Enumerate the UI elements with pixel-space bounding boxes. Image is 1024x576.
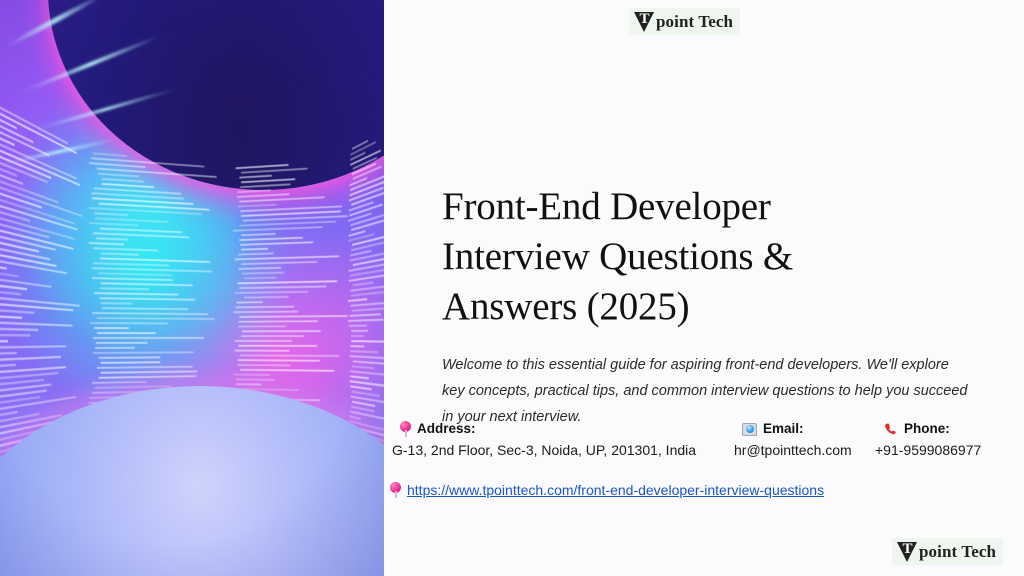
map-pin-icon (390, 482, 401, 498)
contact-email-label: Email: (763, 420, 804, 438)
logo-mark-letter: T (897, 542, 918, 557)
tpoint-triangle-icon: T (897, 541, 918, 562)
hero-image (0, 0, 384, 576)
contact-email-value[interactable]: hr@tpointtech.com (734, 441, 852, 460)
contact-address-label: Address: (417, 420, 476, 438)
contact-address-header: Address: (392, 420, 696, 438)
contact-email: Email: hr@tpointtech.com (734, 420, 852, 460)
contact-address-value: G-13, 2nd Floor, Sec-3, Noida, UP, 20130… (392, 441, 696, 460)
content-panel: T point Tech Front-End Developer Intervi… (384, 0, 1024, 576)
page-title: Front-End Developer Interview Questions … (442, 182, 912, 332)
contact-address: Address: G-13, 2nd Floor, Sec-3, Noida, … (392, 420, 696, 460)
map-pin-icon (400, 421, 411, 437)
tpoint-triangle-icon: T (634, 11, 655, 32)
contact-phone-header: Phone: (875, 420, 981, 438)
brand-logo-top: T point Tech (629, 8, 740, 35)
contact-email-header: Email: (734, 420, 852, 438)
contact-phone: Phone: +91-9599086977 (875, 420, 981, 460)
brand-logo-text: point Tech (656, 11, 733, 32)
article-url-row[interactable]: https://www.tpointtech.com/front-end-dev… (390, 481, 824, 499)
email-icon (742, 423, 757, 436)
article-url-link[interactable]: https://www.tpointtech.com/front-end-dev… (407, 481, 824, 499)
logo-mark-letter: T (634, 12, 655, 27)
phone-icon (883, 422, 898, 437)
contact-phone-value[interactable]: +91-9599086977 (875, 441, 981, 460)
brand-logo-text: point Tech (919, 541, 996, 562)
contact-info-row: Address: G-13, 2nd Floor, Sec-3, Noida, … (392, 420, 1024, 466)
slide-root: T point Tech Front-End Developer Intervi… (0, 0, 1024, 576)
page-subtitle: Welcome to this essential guide for aspi… (442, 352, 972, 430)
contact-phone-label: Phone: (904, 420, 950, 438)
brand-logo-bottom: T point Tech (892, 538, 1003, 565)
